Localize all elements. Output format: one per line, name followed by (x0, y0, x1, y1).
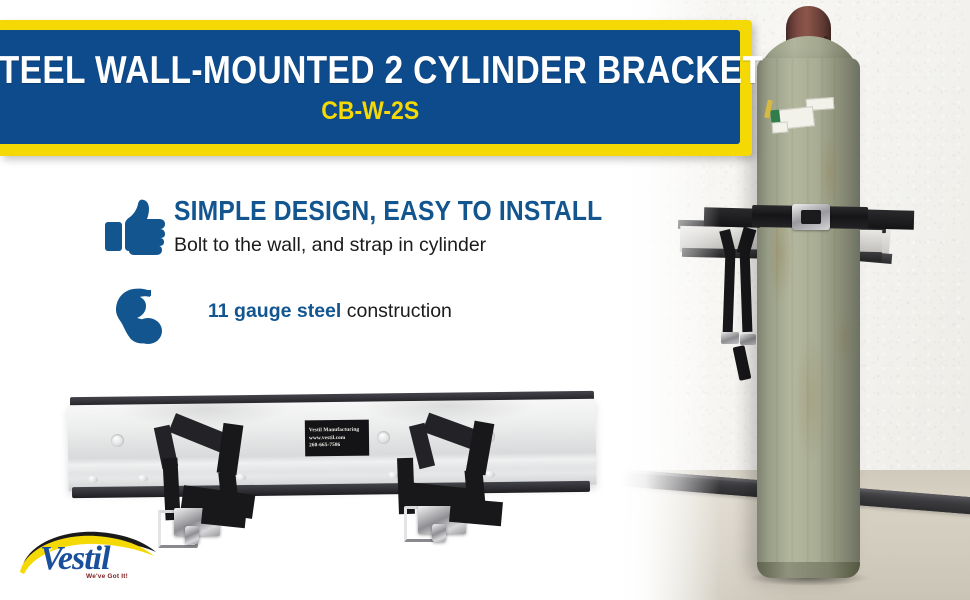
thumbs-up-icon (96, 196, 174, 256)
strap-webbing (218, 471, 238, 507)
feature-highlight: 11 gauge steel (208, 300, 341, 322)
marketing-banner-image: STEEL WALL-MOUNTED 2 CYLINDER BRACKET CB… (0, 0, 970, 600)
mounting-hole (111, 434, 124, 447)
feature-item: SIMPLE DESIGN, EASY TO INSTALL Bolt to t… (96, 196, 616, 258)
feature-text: SIMPLE DESIGN, EASY TO INSTALL Bolt to t… (174, 196, 661, 258)
cylinder-strap-buckle-slot (801, 210, 821, 224)
gas-cylinder (757, 58, 860, 575)
mounting-hole (387, 472, 398, 479)
strap-buckle (721, 332, 739, 344)
product-label: Vestil Manufacturing www.vestil.com 260-… (305, 420, 369, 457)
vestil-logo: Vestil We've Got It! (18, 528, 164, 588)
model-number: CB-W-2S (321, 99, 419, 124)
strap-buckle (740, 334, 756, 345)
mounting-hole (87, 476, 98, 483)
feature-heading: SIMPLE DESIGN, EASY TO INSTALL (174, 196, 602, 225)
title-banner-inner: STEEL WALL-MOUNTED 2 CYLINDER BRACKET CB… (0, 30, 740, 144)
label-line-1: Vestil Manufacturing (309, 427, 365, 434)
cylinder-rust (757, 58, 860, 575)
cylinder-tag (772, 121, 789, 133)
page-title: STEEL WALL-MOUNTED 2 CYLINDER BRACKET (0, 51, 764, 90)
feature-item: 11 gauge steel construction (96, 284, 616, 344)
flexed-bicep-icon (96, 284, 174, 344)
cam-buckle-lever (185, 526, 199, 544)
strap-tail (449, 498, 503, 526)
title-banner: STEEL WALL-MOUNTED 2 CYLINDER BRACKET CB… (0, 20, 752, 156)
cam-buckle-lever (432, 524, 446, 542)
label-line-2: www.vestil.com (309, 434, 365, 441)
mounting-hole (235, 474, 246, 481)
feature-list: SIMPLE DESIGN, EASY TO INSTALL Bolt to t… (96, 196, 616, 344)
mounting-hole (137, 475, 148, 482)
mounting-hole (377, 431, 390, 444)
feature-body-rest: construction (341, 300, 452, 322)
feature-body: 11 gauge steel construction (174, 300, 616, 323)
feature-text: 11 gauge steel construction (174, 284, 616, 323)
logo-tagline: We've Got It! (86, 573, 128, 580)
feature-body: Bolt to the wall, and strap in cylinder (174, 234, 661, 257)
strap-tail (201, 502, 247, 528)
cylinder-base (757, 562, 860, 578)
label-line-3: 260-665-7586 (309, 442, 365, 449)
